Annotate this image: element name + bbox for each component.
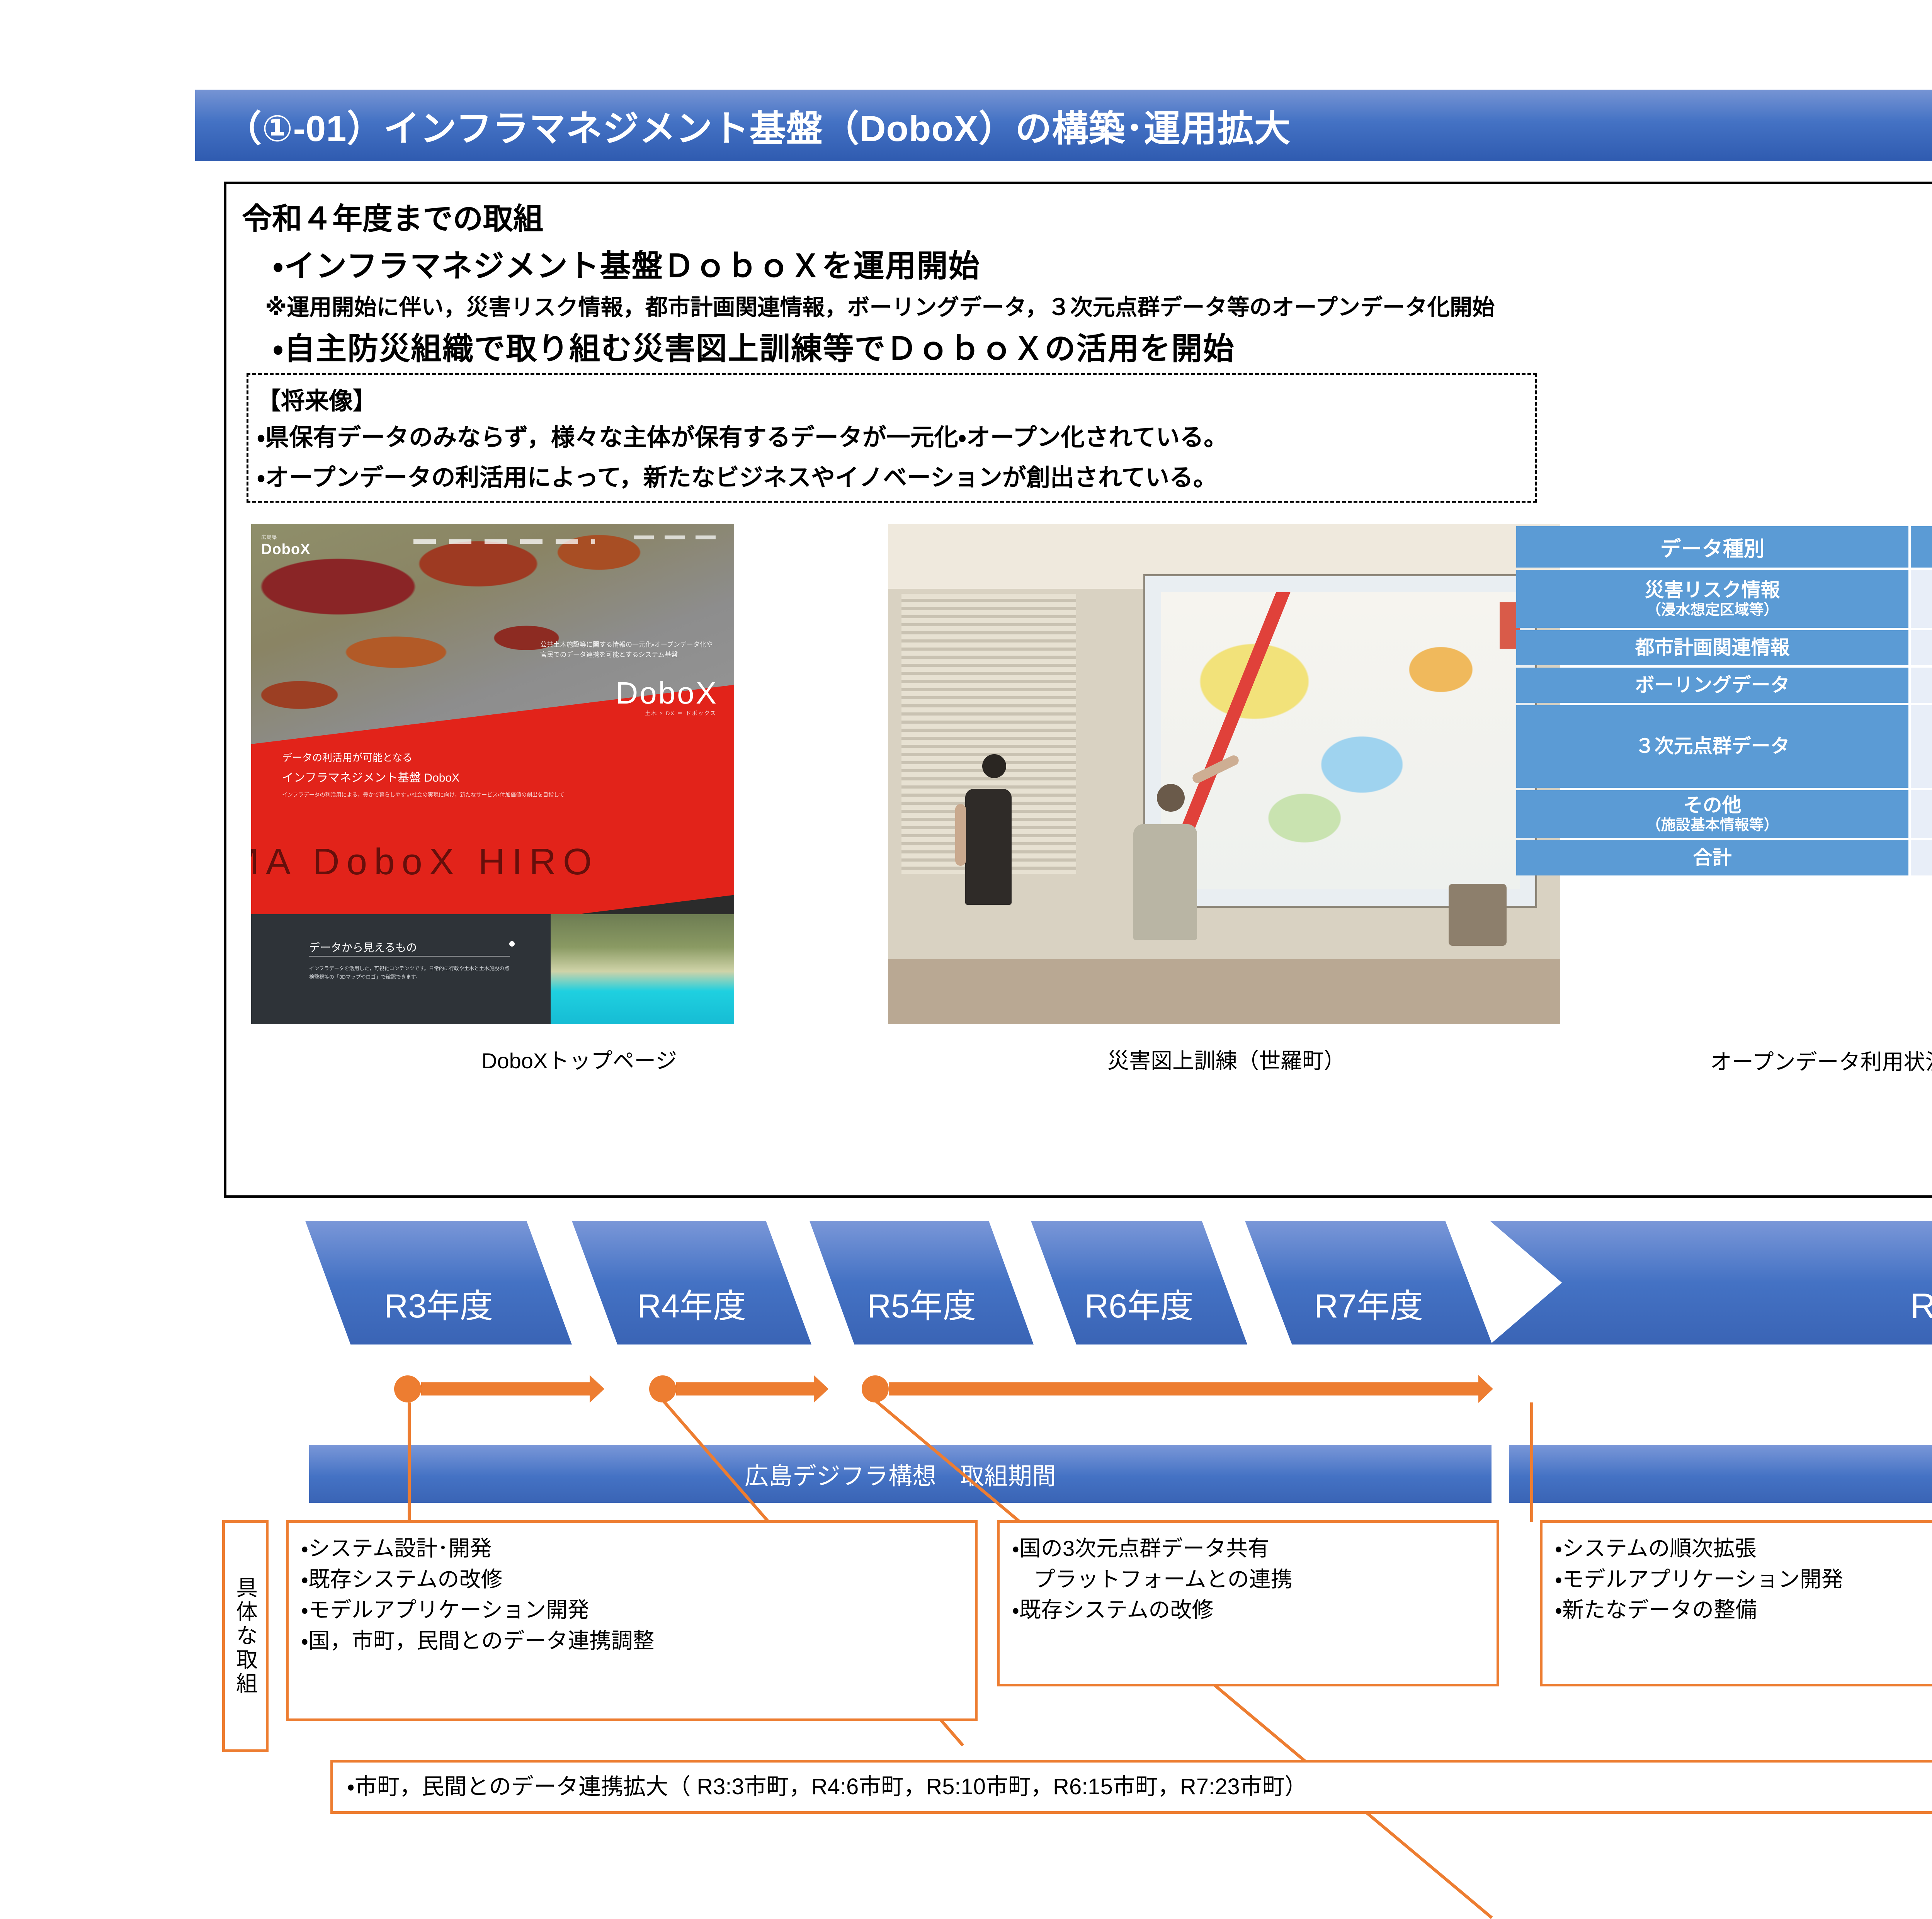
- future-vision-box: 【将来像】 ・県保有データのみならず，様々な主体が保有するデータが一元化・オープ…: [247, 373, 1537, 503]
- timeline-phase-r5: R5年度: [810, 1221, 1034, 1344]
- timeline-phase-r7: R7年度: [1245, 1221, 1492, 1344]
- category-main: その他: [1684, 794, 1742, 816]
- photo-floor: [888, 959, 1560, 1024]
- category-main: ３次元点群データ: [1635, 735, 1790, 757]
- dark-panel-description: インフラデータを活用した，可視化コンテンツです。日常的に行政や土木と土木施設の点…: [309, 964, 514, 981]
- timeline-phase-r3: R3年度: [305, 1221, 572, 1344]
- category-sub: （浸水想定区域等）: [1518, 602, 1907, 619]
- callout-item: プラットフォームとの連携: [1012, 1564, 1497, 1595]
- person-right-head: [1157, 784, 1185, 812]
- callout-item: ・モデルアプリケーション開発: [1555, 1564, 1932, 1595]
- progress-arrow-3: [889, 1382, 1480, 1395]
- red-band-line-2: インフラマネジメント基盤 DoboX: [282, 768, 459, 785]
- callout-item: ・既存システムの改修: [301, 1564, 975, 1595]
- callout-item: ・新たなデータの整備: [1555, 1594, 1932, 1625]
- timeline-band-current: 広島デジフラ構想 取組期間: [309, 1445, 1492, 1503]
- side-label-text: 具体な取組: [232, 1576, 258, 1696]
- future-vision-heading: 【将来像】: [257, 381, 377, 416]
- callout-phase-r8: ・システムの順次拡張 ・モデルアプリケーション開発 ・新たなデータの整備: [1540, 1520, 1932, 1686]
- leader-line-r8: [1530, 1402, 1533, 1522]
- milestone-dot-r3: [394, 1375, 421, 1402]
- achievements-bullet-1: ・インフラマネジメント基盤ＤｏｂｏＸを運用開始: [273, 241, 980, 286]
- category-sub: （施設基本情報等）: [1518, 817, 1907, 834]
- projection-screen: [1143, 574, 1537, 908]
- hero-caption: 公共土木施設等に関する情報の一元化・オープンデータ化や 官民でのデータ連携を可能…: [540, 640, 718, 659]
- projected-hazard-map: [1161, 592, 1520, 889]
- page-title: （①-01）インフラマネジメント基盤（DoboX）の構築･運用拡大: [225, 99, 1291, 152]
- callout-item: ・モデルアプリケーション開発: [301, 1594, 975, 1625]
- future-vision-line-2: ・オープンデータの利活用によって，新たなビジネスやイノベーションが創出されている…: [257, 458, 1217, 493]
- cell-category-total: 合計: [1516, 840, 1908, 875]
- cell-category: ボーリングデータ: [1516, 668, 1908, 703]
- dobox-website-screenshot: 広島県 DoboX 公共土木施設等に関する情報の一元化・オープンデータ化や 官民…: [251, 524, 734, 1024]
- table-row-total: 合計 23,437: [1516, 840, 1932, 875]
- caption-screenshot: DoboXトップページ: [481, 1044, 677, 1075]
- timeline-phase-label: R4年度: [637, 1279, 746, 1327]
- callout-phase-r3: ・システム設計･開発 ・既存システムの改修 ・モデルアプリケーション開発 ・国，…: [286, 1520, 978, 1721]
- dark-panel-divider: [309, 956, 510, 957]
- caption-table: オープンデータ利用状況（6/28～10/28）: [1710, 1045, 1932, 1076]
- photo-chair: [1449, 884, 1507, 946]
- cell-downloads-total: 23,437: [1911, 840, 1932, 875]
- table-header-row: データ種別 ダウンロード数 利用方法: [1516, 526, 1932, 568]
- timeline-phase-label: R8年度以降: [1910, 1277, 1932, 1329]
- person-left-body: [965, 789, 1012, 905]
- cell-category: 災害リスク情報 （浸水想定区域等）: [1516, 570, 1908, 628]
- achievements-bullet-2: ・自主防災組織で取り組む災害図上訓練等でＤｏｂｏＸの活用を開始: [273, 324, 1235, 369]
- dobox-logo-text: DoboX: [261, 541, 310, 558]
- hero-caption-line-1: 公共土木施設等に関する情報の一元化・オープンデータ化や: [540, 640, 718, 650]
- timeline-phase-r4: R4年度: [572, 1221, 811, 1344]
- site-utility-nav[interactable]: [634, 535, 723, 539]
- callout-side-label: 具体な取組: [222, 1520, 269, 1752]
- column-header-downloads: ダウンロード数: [1911, 526, 1932, 568]
- timeline-band-future: 将来計画: [1509, 1445, 1932, 1503]
- aerial-photo-panel: [551, 914, 734, 1024]
- cell-downloads: 17,952: [1911, 570, 1932, 628]
- plus-circle-icon[interactable]: [509, 941, 515, 947]
- cell-downloads: 583: [1911, 790, 1932, 838]
- callout-item: ・国，市町，民間とのデータ連携調整: [301, 1625, 975, 1656]
- open-data-usage-table: データ種別 ダウンロード数 利用方法 災害リスク情報 （浸水想定区域等） 17,…: [1514, 524, 1932, 878]
- cell-downloads: 608: [1911, 705, 1932, 788]
- table-row: ボーリングデータ 1,079 ・工事等の調査計画: [1516, 668, 1932, 703]
- site-nav-menu[interactable]: [413, 539, 595, 544]
- callout-data-linkage-expansion: ・市町，民間とのデータ連携拡大（ R3:3市町，R4:6市町，R5:10市町，R…: [330, 1760, 1932, 1814]
- cell-category: ３次元点群データ: [1516, 705, 1908, 788]
- timeline-phase-label: R3年度: [384, 1279, 493, 1327]
- milestone-dot-r4: [649, 1375, 676, 1402]
- callout-item: ・システムの順次拡張: [1555, 1533, 1932, 1564]
- person-right-body: [1133, 824, 1197, 940]
- cell-category: 都市計画関連情報: [1516, 630, 1908, 665]
- column-header-category: データ種別: [1516, 526, 1908, 568]
- content-panel: 令和４年度までの取組 ・インフラマネジメント基盤ＤｏｂｏＸを運用開始 ※運用開始…: [224, 182, 1932, 1198]
- dobox-brand-sub: 土木 × DX ＝ ドボックス: [645, 709, 716, 717]
- person-left-head: [982, 754, 1006, 778]
- progress-arrow-1: [421, 1382, 591, 1395]
- category-main: 災害リスク情報: [1645, 579, 1780, 601]
- timeline-phase-label: R7年度: [1314, 1279, 1423, 1327]
- roadmap-timeline: R3年度 R4年度 R5年度 R6年度 R7年度 R8年度以降: [0, 1221, 1932, 1368]
- hero-caption-line-2: 官民でのデータ連携を可能とするシステム基盤: [540, 650, 718, 660]
- callout-item: ・国の3次元点群データ共有: [1012, 1533, 1497, 1564]
- pref-label: 広島県: [261, 533, 310, 541]
- progress-arrow-2: [676, 1382, 815, 1395]
- future-vision-line-1: ・県保有データのみならず，様々な主体が保有するデータが一元化・オープン化されてい…: [257, 418, 1228, 452]
- achievements-heading: 令和４年度までの取組: [242, 195, 543, 238]
- person-left-arm: [955, 804, 966, 866]
- dobox-logo: 広島県 DoboX: [261, 533, 310, 558]
- achievements-note: ※運用開始に伴い，災害リスク情報，都市計画関連情報，ボーリングデータ，３次元点群…: [265, 289, 1495, 321]
- timeline-phase-label: R5年度: [867, 1279, 976, 1327]
- dobox-brand-large: DoboX: [616, 675, 718, 711]
- disaster-drill-photo: [888, 524, 1560, 1024]
- watermark-text: MA DoboX HIRO: [251, 841, 734, 883]
- open-data-usage-table-wrapper: データ種別 ダウンロード数 利用方法 災害リスク情報 （浸水想定区域等） 17,…: [1514, 524, 1932, 878]
- milestone-dot-r5: [862, 1375, 889, 1402]
- cell-category: その他 （施設基本情報等）: [1516, 790, 1908, 838]
- timeline-phase-r8: R8年度以降: [1490, 1221, 1932, 1344]
- category-main: 都市計画関連情報: [1635, 637, 1790, 658]
- callout-item: ・市町，民間とのデータ連携拡大（ R3:3市町，R4:6市町，R5:10市町，R…: [347, 1771, 1307, 1803]
- slide-title-bar: （①-01）インフラマネジメント基盤（DoboX）の構築･運用拡大: [195, 90, 1932, 161]
- dark-panel-title: データから見えるもの: [309, 939, 417, 955]
- callout-item: ・既存システムの改修: [1012, 1594, 1497, 1625]
- timeline-band-label: 広島デジフラ構想 取組期間: [745, 1457, 1056, 1491]
- cell-downloads: 3,215: [1911, 630, 1932, 665]
- table-row: 都市計画関連情報 3,215 ・データ分析業務: [1516, 630, 1932, 665]
- table-row: ３次元点群データ 608 ・３次元設計 ・３D地図の作成 ・研究資料: [1516, 705, 1932, 788]
- media-row: 広島県 DoboX 公共土木施設等に関する情報の一元化・オープンデータ化や 官民…: [247, 524, 1932, 1034]
- table-row: その他 （施設基本情報等） 583: [1516, 790, 1932, 838]
- red-band-line-1: データの利活用が可能となる: [282, 750, 412, 764]
- category-main: ボーリングデータ: [1635, 674, 1790, 696]
- callout-item: ・システム設計･開発: [301, 1533, 975, 1564]
- red-band-description: インフラデータの利活用による，豊かで暮らしやすい社会の実現に向け，新たなサービス…: [282, 790, 630, 799]
- cell-downloads: 1,079: [1911, 668, 1932, 703]
- leader-line-r3: [408, 1402, 411, 1520]
- caption-photo: 災害図上訓練（世羅町）: [1107, 1044, 1345, 1075]
- table-row: 災害リスク情報 （浸水想定区域等） 17,952 ・地域の防災活動 ・民間施設管…: [1516, 570, 1932, 628]
- timeline-phase-label: R6年度: [1085, 1279, 1194, 1327]
- callout-phase-r5: ・国の3次元点群データ共有 プラットフォームとの連携 ・既存システムの改修: [997, 1520, 1499, 1686]
- timeline-phase-r6: R6年度: [1031, 1221, 1247, 1344]
